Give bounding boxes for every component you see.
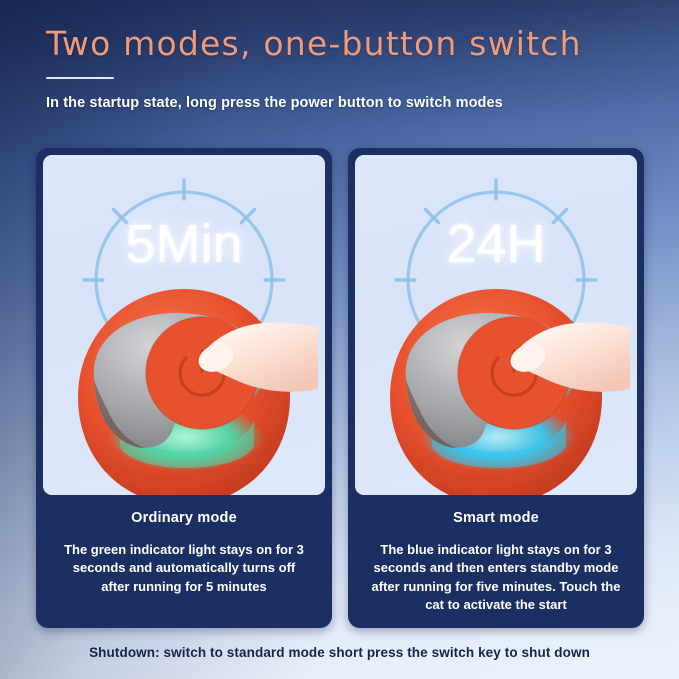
infographic-page: Two modes, one-button switch In the star… [0, 0, 679, 679]
product-photo-smart: 24H [355, 155, 637, 495]
page-title: Two modes, one-button switch [46, 26, 646, 62]
header: Two modes, one-button switch In the star… [46, 26, 646, 111]
mode-description-ordinary: The green indicator light stays on for 3… [43, 541, 325, 596]
product-photo-ordinary: 5Min [43, 155, 325, 495]
mode-name-smart: Smart mode [355, 510, 637, 526]
mode-card-smart: 24H [348, 148, 644, 628]
title-divider [46, 77, 114, 79]
shutdown-note: Shutdown: switch to standard mode short … [0, 645, 679, 660]
massager-device-ordinary [50, 261, 318, 495]
massager-device-smart [362, 261, 630, 495]
mode-card-list: 5Min [36, 148, 644, 628]
mode-description-smart: The blue indicator light stays on for 3 … [355, 541, 637, 615]
mode-card-ordinary: 5Min [36, 148, 332, 628]
page-subtitle: In the startup state, long press the pow… [46, 95, 646, 111]
mode-name-ordinary: Ordinary mode [43, 510, 325, 526]
